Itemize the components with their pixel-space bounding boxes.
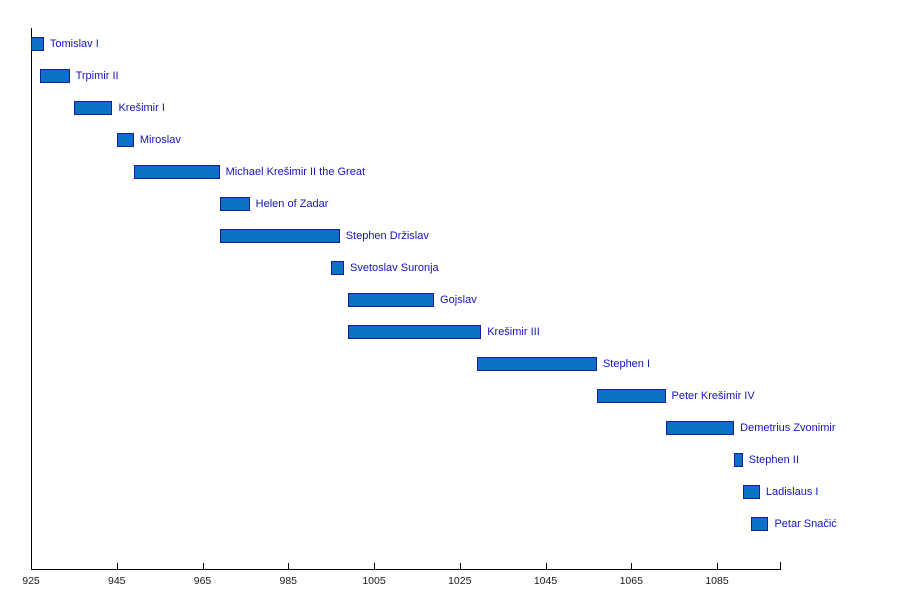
timeline-bar-label: Petar Snačić — [774, 517, 836, 531]
timeline-chart: 92594596598510051025104510651085 Tomisla… — [0, 0, 900, 610]
timeline-bar-row: Stephen Držislav — [0, 229, 900, 243]
timeline-bar[interactable] — [348, 293, 434, 307]
x-axis-tick — [460, 563, 461, 570]
timeline-bar-label: Helen of Zadar — [256, 197, 329, 211]
x-axis-tick — [717, 563, 718, 570]
x-axis-tick — [203, 563, 204, 570]
timeline-bar-label: Krešimir III — [487, 325, 540, 339]
timeline-bar[interactable] — [751, 517, 768, 531]
timeline-bar-row: Krešimir III — [0, 325, 900, 339]
plot-area: 92594596598510051025104510651085 Tomisla… — [0, 0, 900, 610]
timeline-bar-row: Ladislaus I — [0, 485, 900, 499]
timeline-bar-row: Miroslav — [0, 133, 900, 147]
timeline-bar-row: Michael Krešimir II the Great — [0, 165, 900, 179]
timeline-bar[interactable] — [331, 261, 344, 275]
timeline-bar-label: Svetoslav Suronja — [350, 261, 439, 275]
x-axis-tick — [631, 563, 632, 570]
timeline-bar-row: Petar Snačić — [0, 517, 900, 531]
timeline-bar[interactable] — [477, 357, 597, 371]
timeline-bar-row: Trpimir II — [0, 69, 900, 83]
x-axis-end-cap — [780, 562, 781, 570]
x-axis-tick — [288, 563, 289, 570]
timeline-bar-label: Trpimir II — [76, 69, 119, 83]
x-axis-tick-label: 965 — [173, 575, 233, 587]
x-axis-tick — [374, 563, 375, 570]
timeline-bar[interactable] — [597, 389, 666, 403]
timeline-bar-label: Peter Krešimir IV — [672, 389, 755, 403]
x-axis-tick — [31, 563, 32, 570]
timeline-bar[interactable] — [666, 421, 735, 435]
x-axis-tick-label: 1045 — [516, 575, 576, 587]
timeline-bar[interactable] — [74, 101, 113, 115]
timeline-bar-row: Stephen I — [0, 357, 900, 371]
timeline-bar-label: Miroslav — [140, 133, 181, 147]
timeline-bar-row: Demetrius Zvonimir — [0, 421, 900, 435]
timeline-bar[interactable] — [220, 197, 250, 211]
timeline-bar-row: Svetoslav Suronja — [0, 261, 900, 275]
timeline-bar[interactable] — [40, 69, 70, 83]
x-axis-tick — [546, 563, 547, 570]
timeline-bar-label: Michael Krešimir II the Great — [226, 165, 365, 179]
x-axis-line — [31, 569, 781, 570]
timeline-bar[interactable] — [743, 485, 760, 499]
x-axis-tick-label: 1005 — [344, 575, 404, 587]
timeline-bar-row: Peter Krešimir IV — [0, 389, 900, 403]
timeline-bar[interactable] — [31, 37, 44, 51]
timeline-bar-label: Demetrius Zvonimir — [740, 421, 835, 435]
x-axis-tick-label: 1085 — [687, 575, 747, 587]
x-axis-tick-label: 985 — [258, 575, 318, 587]
timeline-bar-row: Tomislav I — [0, 37, 900, 51]
timeline-bar-label: Gojslav — [440, 293, 477, 307]
timeline-bar[interactable] — [348, 325, 481, 339]
timeline-bar-label: Stephen II — [749, 453, 799, 467]
timeline-bar-row: Helen of Zadar — [0, 197, 900, 211]
timeline-bar-label: Tomislav I — [50, 37, 99, 51]
x-axis-tick-label: 1065 — [601, 575, 661, 587]
timeline-bar-row: Gojslav — [0, 293, 900, 307]
x-axis-tick-label: 1025 — [430, 575, 490, 587]
timeline-bar-label: Stephen I — [603, 357, 650, 371]
x-axis-tick-label: 945 — [87, 575, 147, 587]
x-axis-tick — [117, 563, 118, 570]
timeline-bar[interactable] — [734, 453, 743, 467]
timeline-bar-label: Krešimir I — [118, 101, 164, 115]
timeline-bar-row: Stephen II — [0, 453, 900, 467]
timeline-bar[interactable] — [134, 165, 220, 179]
timeline-bar-label: Stephen Držislav — [346, 229, 429, 243]
x-axis-tick-label: 925 — [1, 575, 61, 587]
timeline-bar-label: Ladislaus I — [766, 485, 819, 499]
timeline-bar[interactable] — [117, 133, 134, 147]
timeline-bar-row: Krešimir I — [0, 101, 900, 115]
timeline-bar[interactable] — [220, 229, 340, 243]
